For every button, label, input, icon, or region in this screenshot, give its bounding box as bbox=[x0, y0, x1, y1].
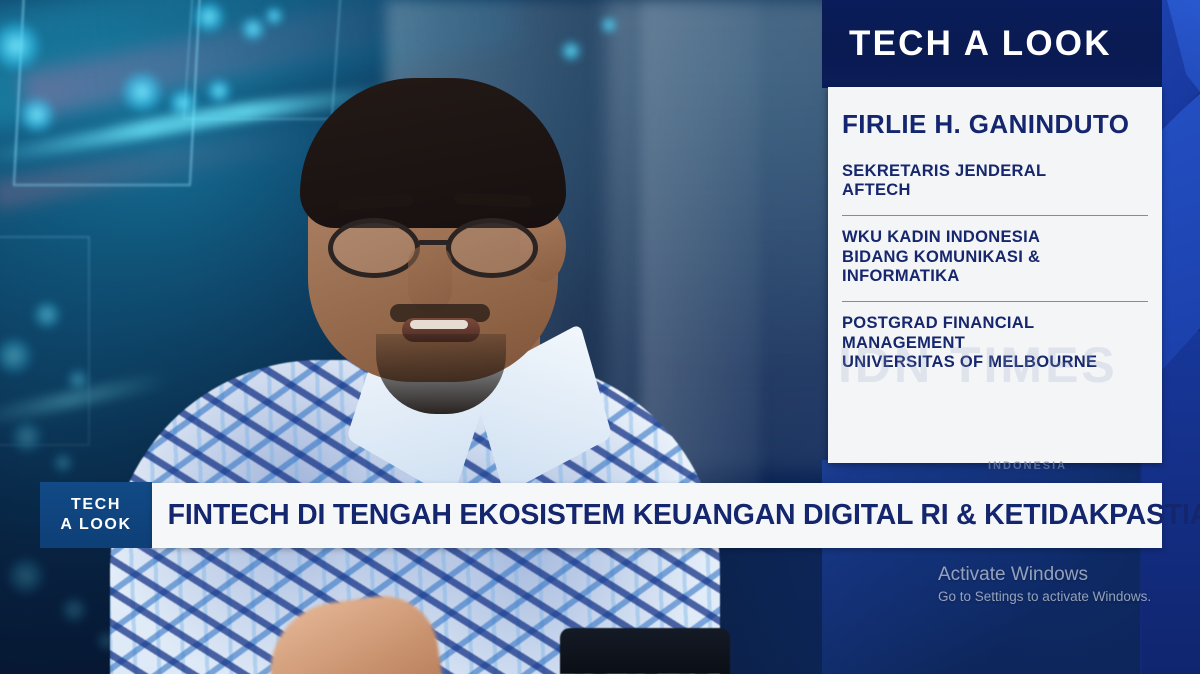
headline-text: FINTECH DI TENGAH EKOSISTEM KEUANGAN DIG… bbox=[152, 499, 1200, 532]
activation-subtitle: Go to Settings to activate Windows. bbox=[938, 588, 1188, 606]
bokeh-light bbox=[192, 0, 226, 34]
activation-title: Activate Windows bbox=[938, 562, 1188, 588]
bokeh-light bbox=[600, 16, 618, 34]
windows-activation-watermark: Activate Windows Go to Settings to activ… bbox=[938, 562, 1188, 606]
show-badge-line-2: A LOOK bbox=[60, 515, 131, 535]
bokeh-light bbox=[18, 96, 56, 134]
credential-line: WKU KADIN INDONESIA bbox=[842, 228, 1148, 247]
credential-line: BIDANG KOMUNIKASI & bbox=[842, 248, 1148, 267]
credential-line: MANAGEMENT bbox=[842, 334, 1148, 353]
credential-block-3: POSTGRAD FINANCIAL MANAGEMENT UNIVERSITA… bbox=[842, 314, 1148, 372]
show-badge: TECH A LOOK bbox=[40, 482, 152, 548]
show-badge-line-1: TECH bbox=[71, 495, 121, 515]
guest-portrait bbox=[90, 60, 730, 674]
credential-line: AFTECH bbox=[842, 181, 1148, 200]
broadcast-screenshot: TECH A LOOK FIRLIE H. GANINDUTO SEKRETAR… bbox=[0, 0, 1200, 674]
eyeglass-lens-right bbox=[446, 218, 538, 278]
eyeglass-lens-left bbox=[328, 218, 420, 278]
bokeh-light bbox=[264, 6, 284, 26]
show-title: TECH A LOOK bbox=[849, 24, 1112, 64]
bokeh-light bbox=[560, 40, 582, 62]
eyeglass-bridge bbox=[418, 240, 450, 245]
bokeh-light bbox=[240, 16, 266, 42]
credential-line: UNIVERSITAS OF MELBOURNE bbox=[842, 353, 1148, 372]
credential-block-2: WKU KADIN INDONESIA BIDANG KOMUNIKASI & … bbox=[842, 228, 1148, 286]
credential-line: INFORMATIKA bbox=[842, 267, 1148, 286]
nose bbox=[408, 246, 452, 312]
guest-info-card: FIRLIE H. GANINDUTO SEKRETARIS JENDERAL … bbox=[828, 87, 1162, 463]
credential-block-1: SEKRETARIS JENDERAL AFTECH bbox=[842, 162, 1148, 201]
teeth bbox=[410, 320, 468, 329]
credential-divider bbox=[842, 301, 1148, 303]
credential-line: POSTGRAD FINANCIAL bbox=[842, 314, 1148, 333]
credential-line: SEKRETARIS JENDERAL bbox=[842, 162, 1148, 181]
microphone-stand bbox=[560, 628, 730, 674]
guest-name: FIRLIE H. GANINDUTO bbox=[842, 87, 1148, 140]
credential-divider bbox=[842, 215, 1148, 217]
headline-ticker: FINTECH DI TENGAH EKOSISTEM KEUANGAN DIG… bbox=[152, 483, 1162, 548]
